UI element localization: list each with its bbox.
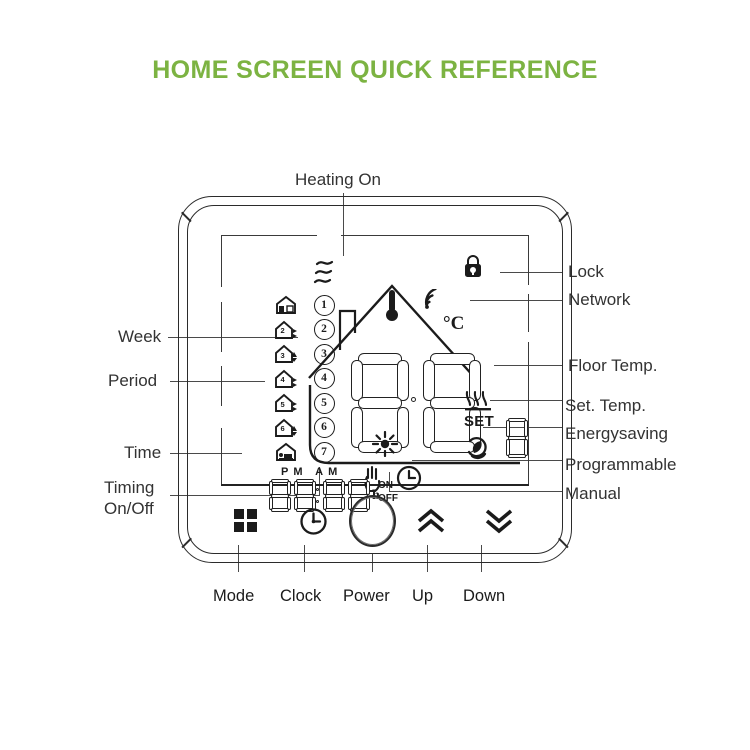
grid-four-squares-icon bbox=[233, 508, 259, 534]
week-number-3: 3 bbox=[314, 344, 335, 365]
period-item-5: 5 bbox=[269, 391, 303, 416]
callout-label-network: Network bbox=[568, 290, 630, 310]
week-item-2: 2 bbox=[309, 318, 339, 343]
ampm-indicator: PM AM bbox=[281, 466, 342, 478]
week-number-2: 2 bbox=[314, 319, 335, 340]
callout-label-floor-temp: Floor Temp. bbox=[568, 356, 657, 376]
week-number-7: 7 bbox=[314, 442, 335, 463]
segment-3 bbox=[358, 397, 403, 409]
button-label-up: Up bbox=[412, 587, 433, 606]
period-number-2: 2 bbox=[281, 327, 285, 335]
callout-label-manual: Manual bbox=[565, 484, 621, 504]
period-number-5: 5 bbox=[281, 401, 285, 409]
lcd-screen: °C SET bbox=[221, 235, 529, 463]
callout-label-lock: Lock bbox=[568, 262, 604, 282]
week-item-4: 4 bbox=[309, 367, 339, 392]
thermostat-device: °C SET bbox=[178, 196, 572, 563]
segment-2 bbox=[287, 481, 291, 495]
period-item-7-sleep bbox=[269, 440, 303, 465]
eco-leaf-icon bbox=[465, 435, 491, 461]
mode-button[interactable] bbox=[229, 504, 263, 538]
set-label-icon: SET bbox=[464, 413, 494, 430]
callout-label-timing-onoff: On/Off bbox=[104, 499, 154, 519]
week-item-7: 7 bbox=[309, 440, 339, 465]
callout-label-time: Time bbox=[124, 443, 161, 463]
week-number-5: 5 bbox=[314, 393, 335, 414]
segment-0 bbox=[358, 353, 403, 365]
button-label-power: Power bbox=[343, 587, 390, 606]
week-number-6: 6 bbox=[314, 417, 335, 438]
callout-label-programmable: Programmable bbox=[565, 455, 677, 475]
clock-face-icon bbox=[299, 507, 328, 536]
callout-label-timing: Timing bbox=[104, 478, 154, 498]
segment-1 bbox=[269, 481, 273, 495]
up-button[interactable] bbox=[414, 505, 448, 537]
period-icon-column: 2 3 bbox=[269, 293, 303, 465]
segment-2 bbox=[397, 360, 409, 402]
week-number-column: 1 2 3 4 5 6 7 bbox=[309, 293, 339, 465]
week-item-1: 1 bbox=[309, 293, 339, 318]
segment-2 bbox=[366, 481, 370, 495]
week-item-6: 6 bbox=[309, 416, 339, 441]
segment-1 bbox=[423, 360, 435, 402]
period-number-4: 4 bbox=[281, 376, 285, 384]
page-title: HOME SCREEN QUICK REFERENCE bbox=[0, 56, 750, 85]
callout-label-week: Week bbox=[118, 327, 161, 347]
down-button[interactable] bbox=[482, 505, 516, 537]
padlock-icon bbox=[463, 254, 483, 278]
period-item-4: 4 bbox=[269, 367, 303, 392]
quick-reference-diagram: HOME SCREEN QUICK REFERENCE Heating On W… bbox=[0, 0, 750, 750]
segment-1 bbox=[506, 420, 510, 437]
button-label-clock: Clock bbox=[280, 587, 321, 606]
week-number-1: 1 bbox=[314, 295, 335, 316]
temperature-unit: °C bbox=[443, 313, 464, 335]
callout-label-period: Period bbox=[108, 371, 157, 391]
period-number-6: 6 bbox=[281, 425, 285, 433]
double-chevron-down-icon bbox=[484, 508, 514, 534]
button-label-down: Down bbox=[463, 587, 505, 606]
temp-digit-3 bbox=[506, 418, 528, 458]
segment-1 bbox=[323, 481, 327, 495]
power-button-inner-ring bbox=[351, 497, 394, 545]
temperature-decimal-point bbox=[411, 397, 416, 402]
period-item-1 bbox=[269, 293, 303, 318]
segment-1 bbox=[348, 481, 352, 495]
segment-6 bbox=[508, 454, 526, 458]
button-row bbox=[221, 494, 529, 546]
segment-1 bbox=[351, 360, 363, 402]
thermometer-icon bbox=[384, 290, 400, 324]
week-item-5: 5 bbox=[309, 391, 339, 416]
period-item-2: 2 bbox=[269, 318, 303, 343]
floor-heating-icon bbox=[464, 387, 494, 413]
sun-snowflake-icon bbox=[372, 431, 398, 457]
callout-label-heating-on: Heating On bbox=[295, 170, 381, 190]
week-number-4: 4 bbox=[314, 368, 335, 389]
button-label-mode: Mode bbox=[213, 587, 254, 606]
week-item-3: 3 bbox=[309, 342, 339, 367]
clock-icon bbox=[395, 464, 423, 492]
segment-3 bbox=[508, 436, 526, 440]
callout-label-energysaving: Energysaving bbox=[565, 424, 668, 444]
period-item-3: 3 bbox=[269, 342, 303, 367]
period-number-3: 3 bbox=[281, 352, 285, 360]
segment-2 bbox=[341, 481, 345, 495]
double-chevron-up-icon bbox=[416, 508, 446, 534]
segment-0 bbox=[430, 353, 475, 365]
clock-button[interactable] bbox=[295, 503, 331, 539]
timer-on-label: ON bbox=[378, 479, 398, 492]
period-item-6: 6 bbox=[269, 416, 303, 441]
segment-2 bbox=[524, 420, 528, 437]
callout-label-set-temp: Set. Temp. bbox=[565, 396, 646, 416]
segment-1 bbox=[294, 481, 298, 495]
